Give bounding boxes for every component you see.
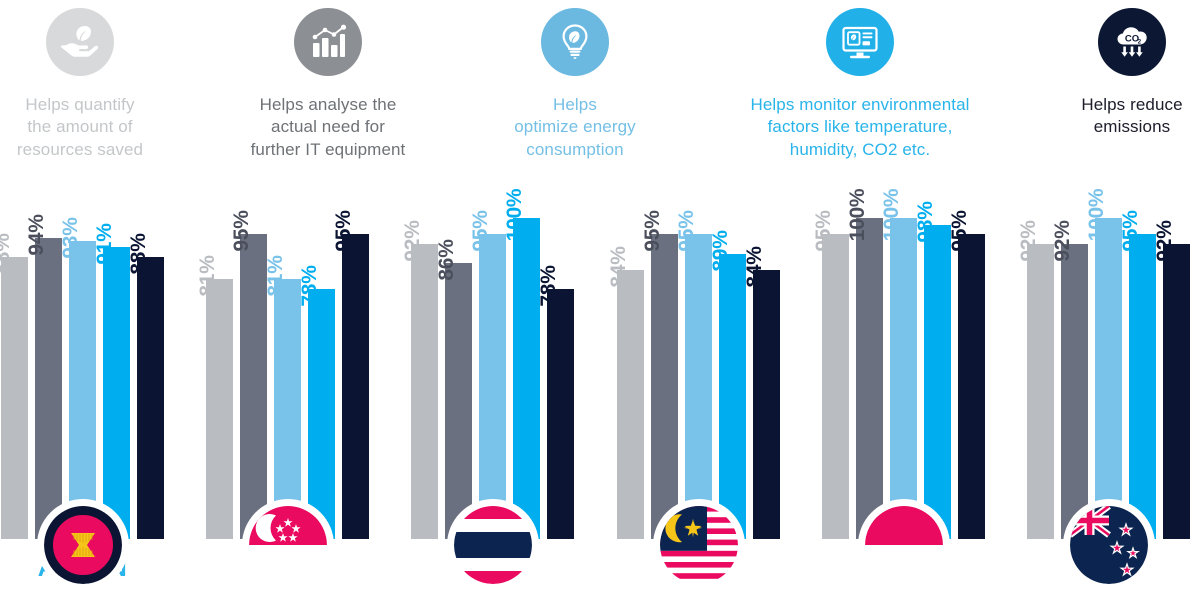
bar-slot: 95% [651,196,678,539]
bar-slot: 94% [35,196,62,539]
bar-value-label: 88% [0,233,15,274]
bar[interactable]: 100% [890,218,917,539]
bar-value-label: 81% [264,256,288,297]
bar-slot: 81% [206,196,233,539]
bars-container: 92%86%95%100%78% [410,196,575,539]
benefit-item-4: Helps monitor environmental factors like… [710,0,1010,161]
bar[interactable]: 95% [822,234,849,539]
bar[interactable]: 86% [445,263,472,539]
bar[interactable]: 94% [35,238,62,539]
monitor-leaf-icon [826,8,894,76]
bar[interactable]: 89% [719,254,746,539]
bar-group-tha: 92%86%95%100%78% THA [410,196,575,597]
bar-group-mal: 84%95%95%89%84% [616,196,781,597]
bar-value-label: 95% [1119,211,1143,252]
bar[interactable]: 88% [137,257,164,539]
bar-value-label: 100% [880,189,904,242]
bar-slot: 95% [1129,196,1156,539]
malaysia-flag [653,499,745,591]
benefit-item-2: Helps analyse the actual need for furthe… [228,0,428,161]
bar-group-ina: 95%100%100%98%95% INA [821,196,986,597]
bar-slot: 78% [547,196,574,539]
benefit-item-5: CO 2 Helps reduce emissions [1032,0,1200,139]
benefit-label-3: Helps optimize energy consumption [514,94,636,161]
bars-container: 84%95%95%89%84% [616,196,781,539]
bar-slot: 93% [69,196,96,539]
newzealand-flag [1063,499,1155,591]
bar-slot: 81% [274,196,301,539]
bar-value-label: 81% [196,256,220,297]
bar-value-label: 95% [641,211,665,252]
bar-slot: 89% [719,196,746,539]
bar[interactable]: 95% [958,234,985,539]
bar-value-label: 91% [93,224,117,265]
bar[interactable]: 92% [1027,244,1054,539]
bar[interactable]: 100% [1095,218,1122,539]
bar-value-label: 95% [675,211,699,252]
benefit-label-5: Helps reduce emissions [1081,94,1182,139]
bar[interactable]: 95% [479,234,506,539]
bars-container: 95%100%100%98%95% [821,196,986,539]
bar-slot: 95% [685,196,712,539]
bar-chart-icon [294,8,362,76]
bar-slot: 88% [1,196,28,539]
bar-slot: 100% [890,196,917,539]
bar-value-label: 92% [1051,221,1075,262]
bar[interactable]: 91% [103,247,130,539]
bars-container: 81%95%81%78%95% [205,196,370,539]
bar[interactable]: 88% [1,257,28,539]
bar-slot: 92% [1061,196,1088,539]
bar-value-label: 93% [59,217,83,258]
bar-slot: 92% [411,196,438,539]
bar[interactable]: 84% [617,270,644,539]
asean-flag [37,499,129,591]
bar[interactable]: 95% [651,234,678,539]
bar-value-label: 84% [607,246,631,287]
flag-image [44,506,122,584]
bar[interactable]: 92% [1061,244,1088,539]
bar-value-label: 95% [812,211,836,252]
bar-value-label: 88% [127,233,151,274]
benefit-label-1: Helps quantify the amount of resources s… [17,94,143,161]
bar-slot: 100% [856,196,883,539]
bar[interactable]: 92% [1163,244,1190,539]
bars-container: 88%94%93%91%88% [0,196,165,539]
bar[interactable]: 95% [240,234,267,539]
bar-value-label: 95% [332,211,356,252]
bar-slot: 95% [822,196,849,539]
bars-container: 92%92%100%95%92% [1026,196,1191,539]
benefit-item-1: Helps quantify the amount of resources s… [0,0,160,161]
bar-value-label: 94% [25,214,49,255]
bar-slot: 95% [958,196,985,539]
bar-value-label: 95% [230,211,254,252]
bar[interactable]: 78% [308,289,335,539]
bar-slot: 100% [513,196,540,539]
bar-value-label: 92% [1017,221,1041,262]
bar-value-label: 100% [1085,189,1109,242]
grouped-bar-chart: 88%94%93%91%88% ASEAN81%95%81%78 [0,196,1200,597]
bar-value-label: 100% [503,189,527,242]
bar[interactable]: 78% [547,289,574,539]
bar-value-label: 95% [948,211,972,252]
bar-group-sin: 81%95%81%78%95% SIN [205,196,370,597]
singapore-flag [242,499,334,591]
bar-value-label: 95% [469,211,493,252]
bar-slot: 95% [240,196,267,539]
thailand-flag [447,499,539,591]
bar-group-asean: 88%94%93%91%88% ASEAN [0,196,165,597]
bar-slot: 95% [342,196,369,539]
bar-slot: 95% [479,196,506,539]
bar-slot: 98% [924,196,951,539]
bar-value-label: 100% [846,189,870,242]
bar-value-label: 78% [298,265,322,306]
bar[interactable]: 93% [69,241,96,539]
bar-slot: 100% [1095,196,1122,539]
flag-image [865,506,943,584]
bar[interactable]: 84% [753,270,780,539]
bar-slot: 92% [1027,196,1054,539]
bar[interactable]: 95% [1129,234,1156,539]
bar[interactable]: 100% [856,218,883,539]
bar-value-label: 84% [743,246,767,287]
hand-leaf-icon [46,8,114,76]
bar[interactable]: 92% [411,244,438,539]
bar[interactable]: 95% [685,234,712,539]
bar-value-label: 89% [709,230,733,271]
bar-slot: 92% [1163,196,1190,539]
benefit-item-3: Helps optimize energy consumption [480,0,670,161]
bar-value-label: 86% [435,240,459,281]
benefits-row: Helps quantify the amount of resources s… [0,0,1200,180]
flag-image [660,506,738,584]
bar-value-label: 78% [537,265,561,306]
bar-value-label: 92% [1153,221,1177,262]
bar-slot: 86% [445,196,472,539]
bar-slot: 88% [137,196,164,539]
bar-group-anz: 92%92%100%95%92% [1026,196,1191,597]
bar-value-label: 98% [914,201,938,242]
bar-slot: 84% [617,196,644,539]
benefit-label-2: Helps analyse the actual need for furthe… [251,94,406,161]
bar-value-label: 92% [401,221,425,262]
lightbulb-leaf-icon [541,8,609,76]
flag-image [249,506,327,584]
co2-cloud-icon: CO 2 [1098,8,1166,76]
flag-image [1070,506,1148,584]
bar-slot: 84% [753,196,780,539]
benefit-label-4: Helps monitor environmental factors like… [750,94,969,161]
indonesia-flag [858,499,950,591]
flag-image [454,506,532,584]
bar[interactable]: 98% [924,225,951,539]
bar-slot: 78% [308,196,335,539]
bar[interactable]: 95% [342,234,369,539]
bar-slot: 91% [103,196,130,539]
bar[interactable]: 81% [206,279,233,539]
bar[interactable]: 100% [513,218,540,539]
